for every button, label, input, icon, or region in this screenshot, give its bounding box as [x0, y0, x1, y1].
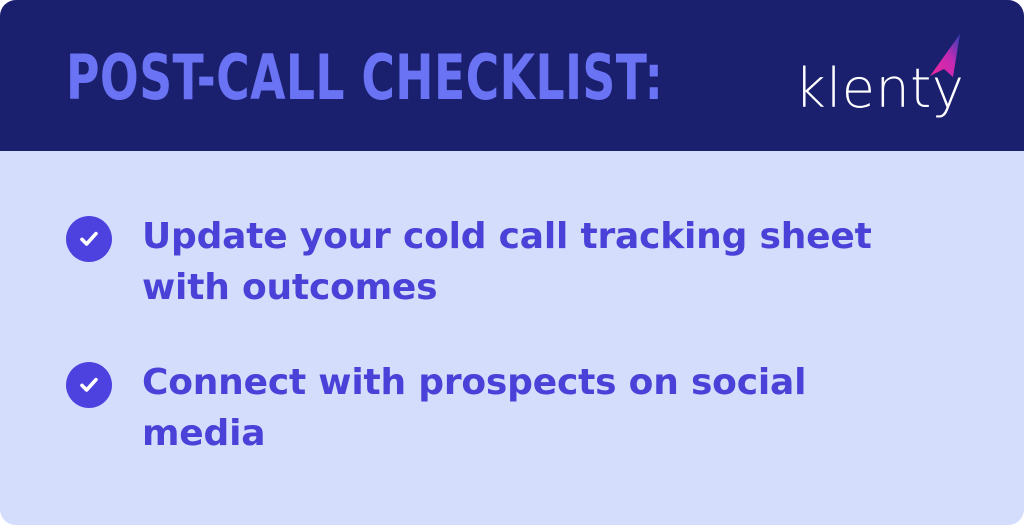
checklist-item-label: Update your cold call tracking sheet wit… [142, 211, 902, 313]
klenty-logo: klenty [794, 36, 968, 116]
checklist-item-label: Connect with prospects on social media [142, 357, 902, 459]
post-call-checklist-card: POST-CALL CHECKLIST: klenty [0, 0, 1024, 525]
check-circle-icon [66, 216, 112, 262]
check-circle-icon [66, 362, 112, 408]
klenty-wordmark: klenty [794, 62, 964, 116]
list-item[interactable]: Connect with prospects on social media [66, 357, 964, 459]
list-item[interactable]: Update your cold call tracking sheet wit… [66, 211, 964, 313]
card-header: POST-CALL CHECKLIST: klenty [0, 0, 1024, 151]
page-title: POST-CALL CHECKLIST: [66, 43, 663, 109]
checklist: Update your cold call tracking sheet wit… [66, 211, 964, 459]
card-body: Update your cold call tracking sheet wit… [0, 151, 1024, 525]
